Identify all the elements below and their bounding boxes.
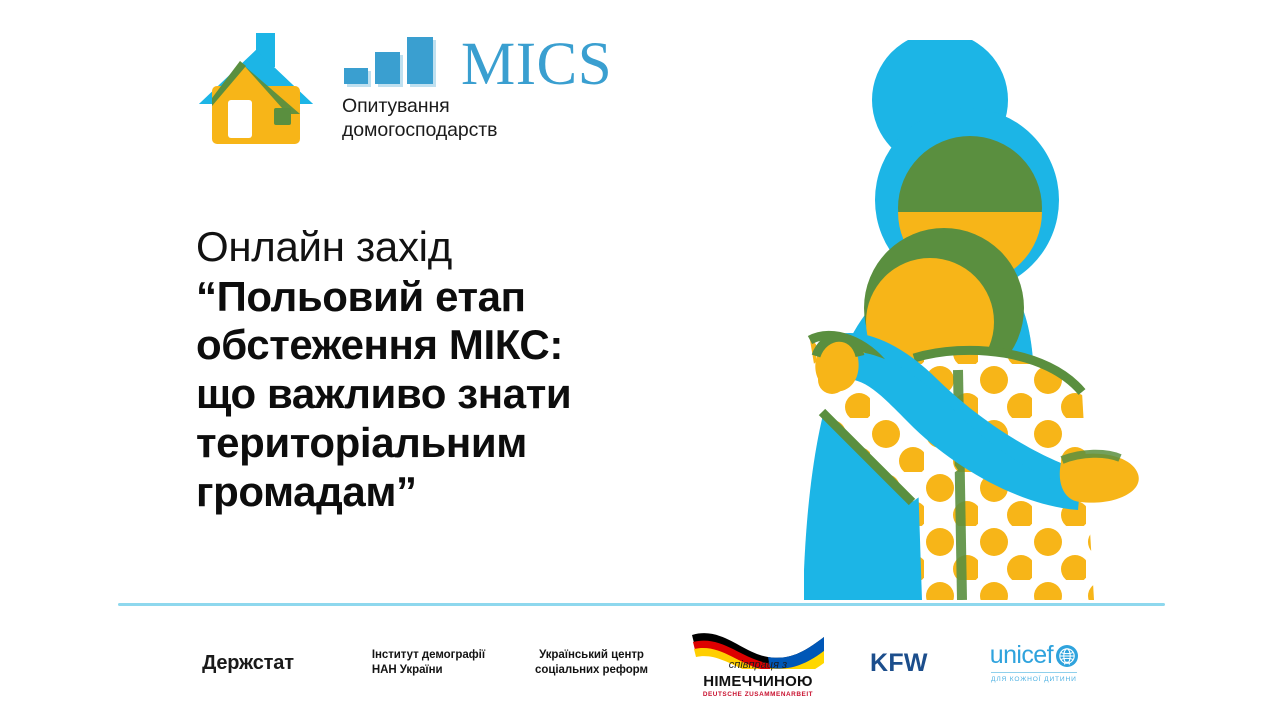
brand-text-block: MICS Опитування домогосподарств — [342, 28, 612, 143]
ucsr-line1: Український центр — [535, 648, 648, 663]
ucsr-line2: соціальних реформ — [535, 663, 648, 678]
mics-wordmark-text: MICS — [461, 39, 612, 91]
headline-kicker: Онлайн захід — [196, 222, 666, 272]
mics-subtitle-line1: Опитування — [342, 95, 612, 119]
german-caption-line1: співпраця з — [729, 659, 787, 671]
bar-chart-icon — [342, 34, 454, 88]
headline-title-line2: обстеження МІКС: — [196, 321, 666, 370]
partner-logo-kfw: KFW — [870, 649, 928, 678]
mics-subtitle: Опитування домогосподарств — [342, 95, 612, 143]
mics-subtitle-line2: домогосподарств — [342, 119, 612, 143]
partner-logo-ukrainian-centre-social-reforms: Український центр соціальних реформ — [535, 648, 648, 678]
headline-title: “Польовий етап обстеження МІКС: що важли… — [196, 273, 666, 518]
headline-title-line5: громадам” — [196, 468, 666, 517]
unicef-wordmark-text: unicef — [990, 643, 1053, 668]
german-cooperation-caption: співпраця з НІМЕЧЧИНОЮ DEUTSCHE ZUSAMMEN… — [703, 655, 813, 698]
page-title: Онлайн захід “Польовий етап обстеження М… — [196, 222, 666, 517]
unicef-wordmark-row: unicef — [990, 643, 1078, 668]
partner-logos-bar: Держстат Інститут демографії НАН України… — [0, 622, 1280, 704]
idss-line2: НАН України — [372, 663, 485, 678]
slide-canvas: MICS Опитування домогосподарств Онлайн з… — [0, 0, 1280, 720]
headline-title-line3: що важливо знати — [196, 370, 666, 419]
partner-logo-german-cooperation: співпраця з НІМЕЧЧИНОЮ DEUTSCHE ZUSAMMEN… — [688, 627, 828, 698]
mics-brand-lockup: MICS Опитування домогосподарств — [196, 28, 612, 150]
house-icon — [196, 28, 316, 150]
headline-title-line1: “Польовий етап — [196, 273, 666, 322]
partner-logo-institute-of-demography: Інститут демографії НАН України — [372, 648, 485, 678]
unicef-divider — [991, 672, 1077, 673]
german-caption-line2: НІМЕЧЧИНОЮ — [703, 674, 813, 690]
mother-and-child-illustration — [762, 40, 1162, 600]
idss-line1: Інститут демографії — [372, 648, 485, 663]
unicef-globe-icon — [1056, 645, 1078, 667]
partner-logo-unicef: unicef для кожної дитини — [990, 643, 1078, 683]
unicef-tagline: для кожної дитини — [991, 676, 1077, 683]
headline-title-line4: територіальним — [196, 419, 666, 468]
mics-wordmark: MICS — [342, 34, 612, 88]
german-caption-line3: DEUTSCHE ZUSAMMENARBEIT — [703, 692, 813, 699]
partner-logo-derzhstat: Держстат — [202, 652, 294, 675]
footer-divider — [118, 603, 1165, 606]
